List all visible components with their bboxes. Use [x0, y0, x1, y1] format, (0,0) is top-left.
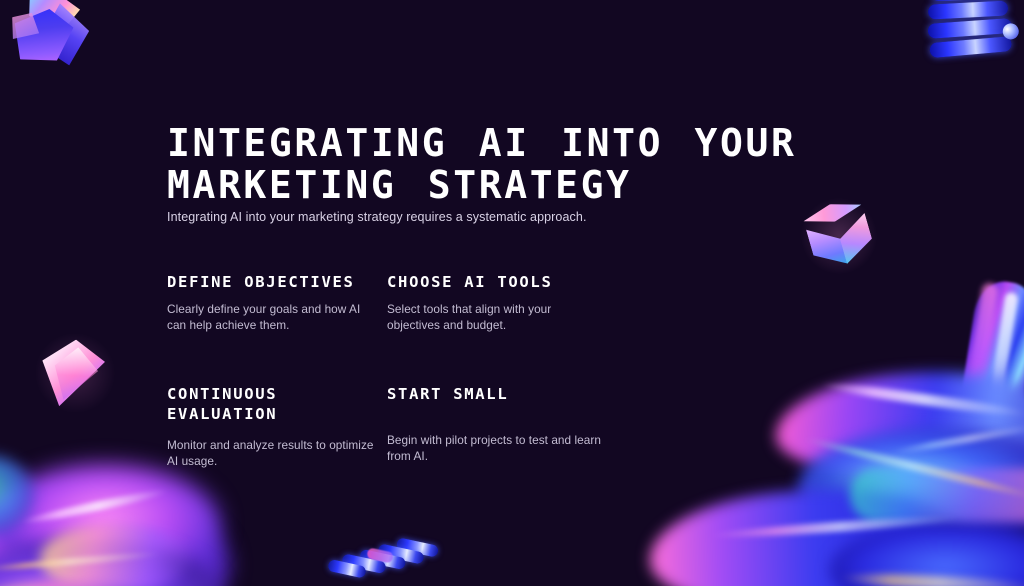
- page-subtitle: Integrating AI into your marketing strat…: [167, 209, 727, 225]
- card-body: Clearly define your goals and how AI can…: [167, 302, 382, 333]
- slide-canvas: INTEGRATING AI INTO YOUR MARKETING STRAT…: [0, 0, 1024, 586]
- card-define-objectives: DEFINE OBJECTIVES Clearly define your go…: [167, 272, 382, 333]
- card-body: Select tools that align with your object…: [387, 302, 602, 333]
- page-title: INTEGRATING AI INTO YOUR MARKETING STRAT…: [167, 122, 867, 206]
- card-body: Begin with pilot projects to test and le…: [387, 433, 602, 464]
- page-title-line-2: MARKETING STRATEGY: [167, 164, 867, 206]
- card-title: START SMALL: [387, 384, 602, 404]
- card-choose-ai-tools: CHOOSE AI TOOLS Select tools that align …: [387, 272, 602, 333]
- card-start-small: START SMALL Begin with pilot projects to…: [387, 384, 602, 464]
- page-title-line-1: INTEGRATING AI INTO YOUR: [167, 122, 867, 164]
- card-title: DEFINE OBJECTIVES: [167, 272, 382, 292]
- card-title: CHOOSE AI TOOLS: [387, 272, 602, 292]
- card-title: CONTINUOUS EVALUATION: [167, 384, 382, 424]
- card-body: Monitor and analyze results to optimize …: [167, 438, 382, 469]
- card-continuous-evaluation: CONTINUOUS EVALUATION Monitor and analyz…: [167, 384, 382, 469]
